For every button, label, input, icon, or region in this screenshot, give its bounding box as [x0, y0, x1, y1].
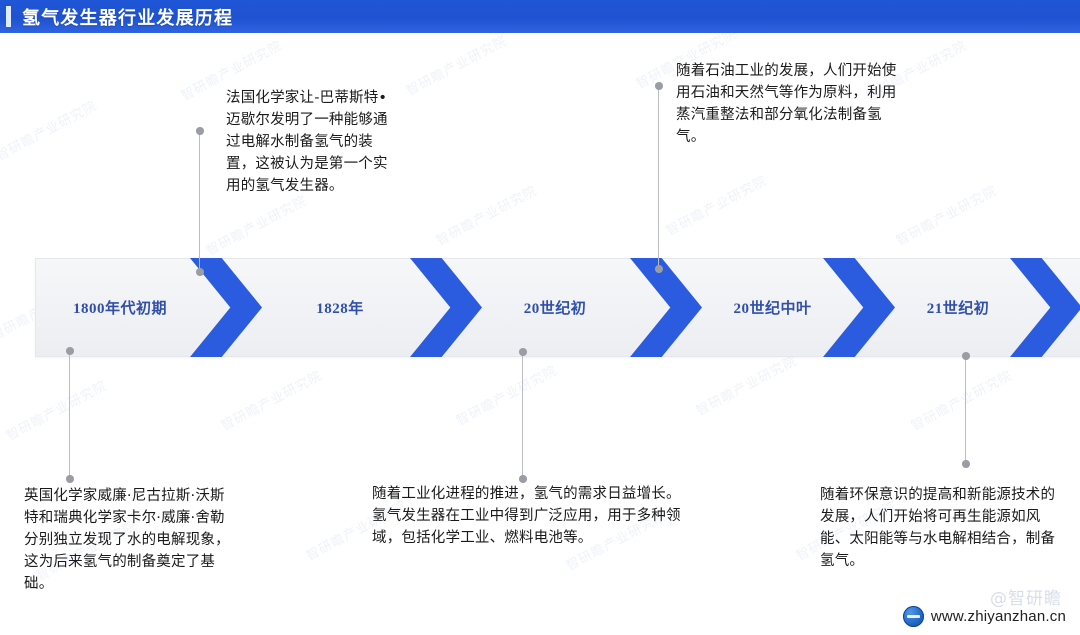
timeline-segment-21st-early[interactable]: 21世纪初 [883, 258, 1033, 357]
callout-21st-early: 随着环保意识的提高和新能源技术的发展，人们开始将可再生能源如风能、太阳能等与水电… [820, 484, 1068, 572]
timeline-segment-1800s[interactable]: 1800年代初期 [35, 258, 205, 357]
timeline-segment-1828[interactable]: 1828年 [260, 258, 420, 357]
infographic-canvas: 智研瞻产业研究院 智研瞻产业研究院 智研瞻产业研究院 智研瞻产业研究院 智研瞻产… [0, 0, 1080, 635]
page-title: 氢气发生器行业发展历程 [22, 4, 233, 30]
connector-dot-top [655, 82, 663, 90]
connector-line [199, 130, 200, 273]
connector-line [522, 351, 523, 480]
background-watermark: 智研瞻产业研究院 [452, 360, 560, 429]
connector-dot-top [66, 347, 74, 355]
background-watermark: 智研瞻产业研究院 [692, 350, 800, 419]
background-watermark: 智研瞻产业研究院 [0, 95, 100, 164]
callout-20th-mid: 随着石油工业的发展，人们开始使用石油和天然气等作为原料，利用蒸汽重整法和部分氧化… [676, 60, 906, 148]
zhiyanzhan-globe-icon [903, 606, 924, 627]
connector-dot-bottom [962, 460, 970, 468]
background-watermark: 智研瞻产业研究院 [402, 30, 510, 99]
connector-dot-bottom [655, 265, 663, 273]
timeline-segment-20th-mid[interactable]: 20世纪中叶 [690, 258, 855, 357]
callout-20th-early: 随着工业化进程的推进，氢气的需求日益增长。氢气发生器在工业中得到广泛应用，用于多… [372, 483, 692, 549]
connector-dot-bottom [519, 475, 527, 483]
background-watermark: 智研瞻产业研究院 [2, 375, 110, 444]
background-watermark: 智研瞻产业研究院 [432, 180, 540, 249]
timeline-track: 1800年代初期 1828年 20世纪初 20世纪中叶 21世纪初 [35, 258, 1080, 357]
timeline-segment-20th-early[interactable]: 20世纪初 [475, 258, 635, 357]
connector-dot-top [519, 348, 527, 356]
callout-1828: 法国化学家让-巴蒂斯特•迈歇尔发明了一种能够通过电解水制备氢气的装置，这被认为是… [226, 87, 398, 197]
connector-line [965, 355, 966, 465]
connector-line [658, 85, 659, 270]
connector-line [69, 350, 70, 480]
connector-dot-top [196, 127, 204, 135]
background-watermark: 智研瞻产业研究院 [662, 170, 770, 239]
connector-dot-bottom [66, 475, 74, 483]
footer-brand[interactable]: www.zhiyanzhan.cn [903, 606, 1066, 627]
background-watermark: 智研瞻产业研究院 [892, 180, 1000, 249]
connector-dot-bottom [196, 268, 204, 276]
page-title-bar: 氢气发生器行业发展历程 [0, 0, 1080, 33]
footer-url[interactable]: www.zhiyanzhan.cn [931, 608, 1066, 625]
background-watermark: 智研瞻产业研究院 [202, 190, 310, 259]
callout-1800s: 英国化学家威廉·尼古拉斯·沃斯特和瑞典化学家卡尔·威廉·舍勒分别独立发现了水的电… [24, 485, 238, 595]
background-watermark: 智研瞻产业研究院 [217, 365, 325, 434]
connector-dot-top [962, 352, 970, 360]
background-watermark: 智研瞻产业研究院 [907, 365, 1015, 434]
title-accent-bar [6, 6, 11, 27]
